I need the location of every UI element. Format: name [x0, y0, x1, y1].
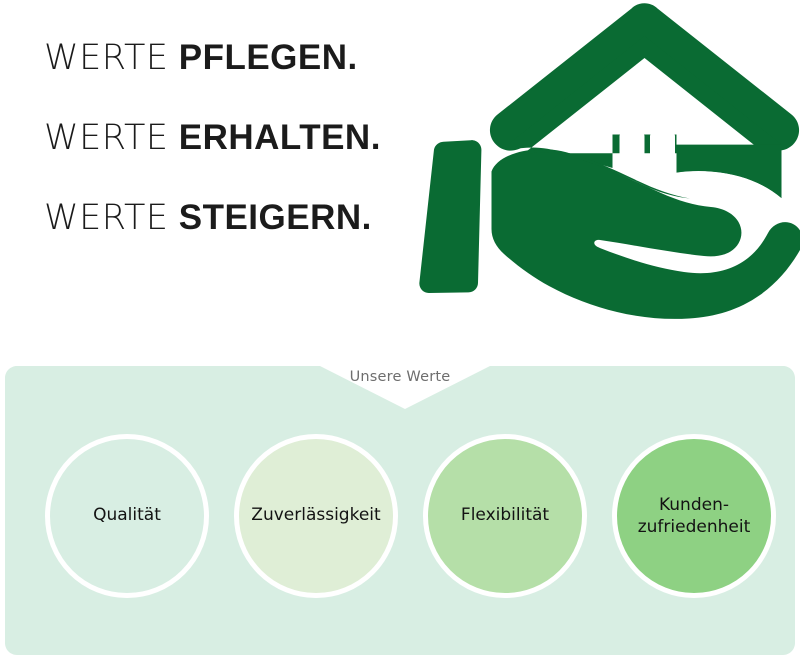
slogan-line-1-bold: PFLEGEN. [179, 38, 358, 77]
slogan-line-1-light: WERTE [44, 38, 169, 78]
sleeve-cuff [419, 140, 481, 293]
slogan-block: WERTE PFLEGEN. WERTE ERHALTEN. WERTE STE… [44, 40, 444, 236]
hand-holding-house-icon [412, 0, 800, 348]
value-circle-label: Zuverlässigkeit [245, 505, 386, 526]
infographic-canvas: WERTE PFLEGEN. WERTE ERHALTEN. WERTE STE… [0, 0, 800, 659]
slogan-line-3-light: WERTE [44, 198, 169, 238]
values-circle-row: Qualität Zuverlässigkeit Flexibilität Ku… [5, 366, 795, 655]
value-circle-label: Qualität [87, 505, 167, 526]
values-panel: Unsere Werte Qualität Zuverlässigkeit Fl… [5, 366, 795, 655]
slogan-line-2-bold: ERHALTEN. [179, 118, 381, 157]
value-circle-label: Flexibilität [455, 505, 555, 526]
value-circle-flexibilitaet[interactable]: Flexibilität [423, 434, 587, 598]
slogan-line-3-bold: STEIGERN. [179, 198, 372, 237]
slogan-line-2-light: WERTE [44, 118, 169, 158]
value-circle-kundenzufriedenheit[interactable]: Kunden-zufriedenheit [612, 434, 776, 598]
slogan-line-3: WERTE STEIGERN. [44, 200, 444, 236]
value-circle-label: Kunden-zufriedenheit [632, 494, 757, 538]
value-circle-qualitaet[interactable]: Qualität [45, 434, 209, 598]
house-body-right-wall [677, 145, 782, 199]
hero-section: WERTE PFLEGEN. WERTE ERHALTEN. WERTE STE… [0, 0, 800, 360]
slogan-line-1: WERTE PFLEGEN. [44, 40, 444, 76]
slogan-line-2: WERTE ERHALTEN. [44, 120, 444, 156]
value-circle-zuverlaessigkeit[interactable]: Zuverlässigkeit [234, 434, 398, 598]
